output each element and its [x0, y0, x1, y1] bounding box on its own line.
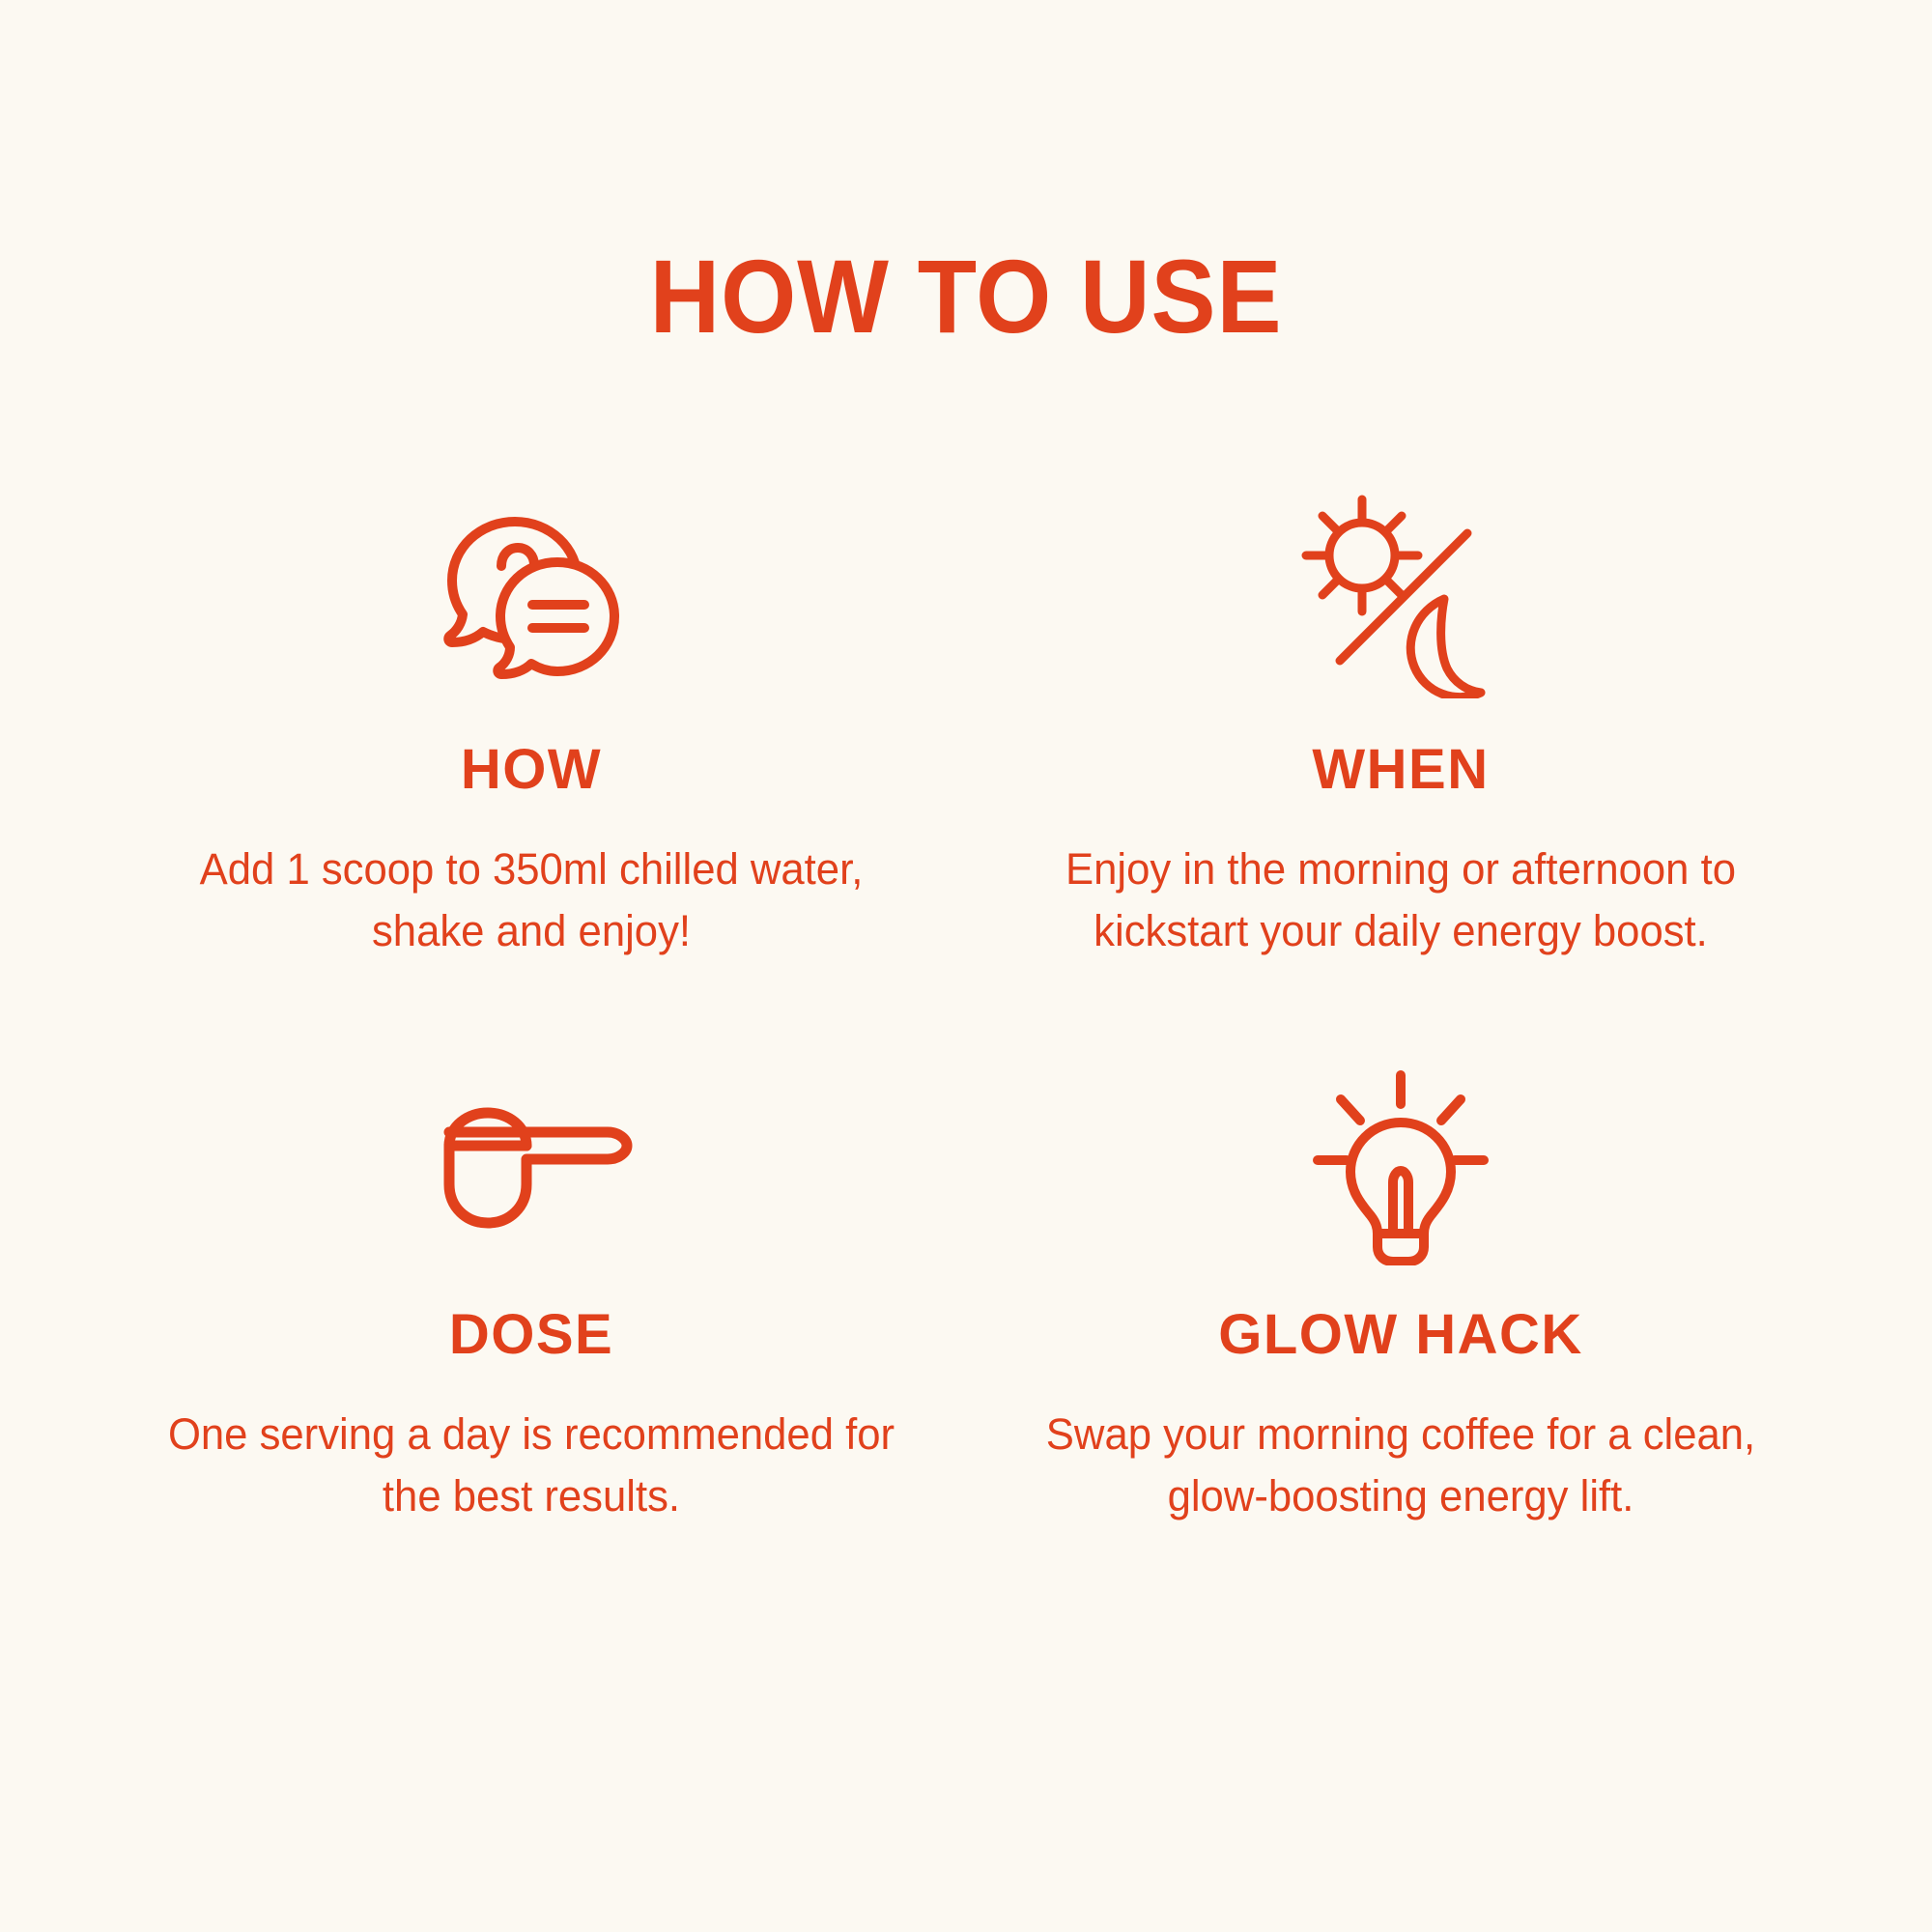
card-when: WHEN Enjoy in the morning or afternoon t… — [966, 483, 1835, 1063]
lightbulb-icon — [1304, 1063, 1497, 1270]
card-body-dose: One serving a day is recommended for the… — [147, 1404, 915, 1527]
card-body-glow-hack: Swap your morning coffee for a clean, gl… — [1016, 1404, 1784, 1527]
card-body-when: Enjoy in the morning or afternoon to kic… — [1031, 838, 1771, 962]
card-glow-hack: GLOW HACK Swap your morning coffee for a… — [966, 1063, 1835, 1642]
card-body-how: Add 1 scoop to 350ml chilled water, shak… — [161, 838, 901, 962]
card-how: HOW Add 1 scoop to 350ml chilled water, … — [97, 483, 966, 1063]
speech-bubbles-question-icon — [425, 483, 638, 705]
measuring-scoop-icon — [428, 1063, 636, 1270]
card-dose: DOSE One serving a day is recommended fo… — [97, 1063, 966, 1642]
instruction-grid: HOW Add 1 scoop to 350ml chilled water, … — [97, 483, 1835, 1642]
card-heading-when: WHEN — [1312, 742, 1489, 798]
card-heading-dose: DOSE — [449, 1307, 613, 1363]
card-heading-glow-hack: GLOW HACK — [1218, 1307, 1583, 1363]
sun-moon-icon — [1297, 483, 1505, 705]
page-title: HOW TO USE — [68, 240, 1864, 355]
card-heading-how: HOW — [461, 742, 602, 798]
how-to-use-page: HOW TO USE HOW Add 1 scoop to 350ml chil… — [0, 0, 1932, 1932]
